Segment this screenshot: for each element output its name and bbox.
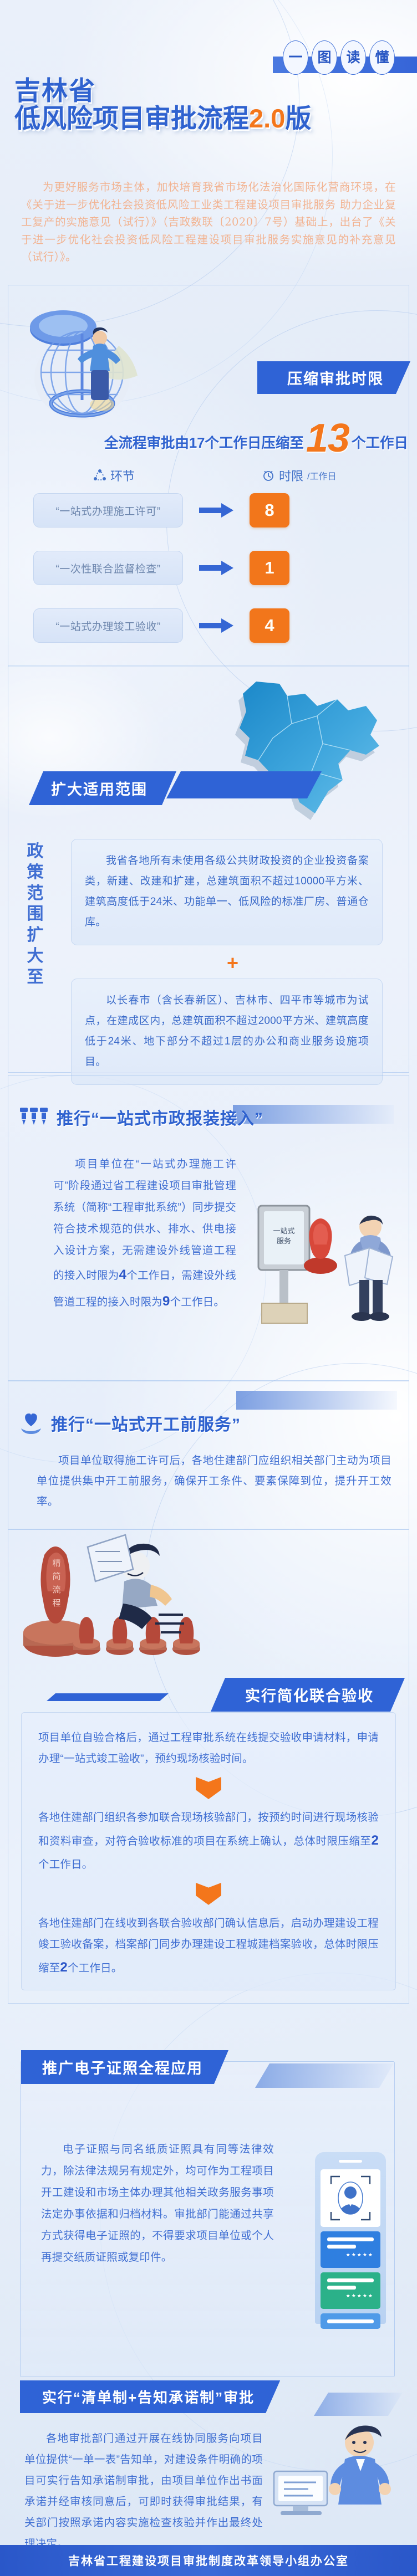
column-header-days-unit: /工作日	[307, 469, 336, 482]
section6-body: 电子证照与同名纸质证照具有同等法律效力，除法律法规另有规定外，均可作为工程项目开…	[41, 2139, 274, 2268]
plus-icon: +	[227, 953, 238, 973]
jilin-province-map-icon	[231, 672, 397, 838]
stamp-char-2: 简	[52, 1572, 60, 1581]
section5-content-box: 项目单位自验合格后，通过工程审批系统在线提交验收申请材料，申请办理“一站式竣工验…	[21, 1712, 396, 1990]
step-days: 8	[250, 493, 289, 528]
step-days: 1	[250, 551, 289, 585]
section3-body-part3: 个工作日。	[170, 1296, 225, 1308]
step-days: 4	[250, 608, 289, 643]
stamps-and-runner-illustration: 精 简 流 程	[10, 1532, 232, 1709]
intro-paragraph: 为更好服务市场主体，加快培育我省市场化法治化国际化营商环境，在《关于进一步优化社…	[21, 178, 396, 266]
page-header: 一 图 读 懂 吉林省 低风险项目审批流程2.0版	[0, 0, 417, 166]
scope-card-1: 我省各地所有未使用各级公共财政投资的企业投资备案类，新建、改建和扩建，总建筑面积…	[71, 839, 383, 945]
license-line	[327, 2237, 374, 2241]
section-electronic-license: 推广电子证照全程应用 电子证照与同名纸质证照具有同等法律效力，除法律法规另有规定…	[0, 2032, 417, 2387]
section5-ribbon-wrap: 实行简化联合验收	[211, 1678, 405, 1712]
step-label: “一次性联合监督检查”	[33, 551, 183, 585]
section3-heading: 推行“一站式市政报装接入”	[19, 1105, 263, 1129]
officer-and-computer-illustration	[271, 2418, 401, 2529]
person-id-icon	[329, 2174, 372, 2222]
title-version: 2.0	[249, 104, 285, 133]
column-header-step: 环节	[93, 467, 135, 484]
id-photo-panel	[321, 2169, 380, 2227]
scope-card-2: 以长春市（含长春新区）、吉林市、四平市等城市为试点，在建成区内，总建筑面积不超过…	[71, 979, 383, 1085]
section2-ribbon-title: 扩大适用范围	[29, 771, 176, 805]
license-line	[327, 2319, 374, 2323]
section3-body: 项目单位在“一站式办理施工许可”阶段通过省工程建设项目审批管理系统（简称“工程审…	[53, 1154, 236, 1315]
acceptance-block-2: 各地住建部门组织各参加联合现场核验部门，按预约时间进行现场核验和资料审查，对符合…	[38, 1807, 379, 1875]
license-line	[327, 2286, 356, 2290]
license-line	[327, 2245, 356, 2249]
chevron-down-icon	[196, 1883, 221, 1905]
column-header-step-label: 环节	[110, 467, 135, 484]
section7-ribbon-wrap: 实行“清单制+告知承诺制”审批	[20, 2380, 280, 2413]
globe-illustration	[16, 295, 160, 428]
badge-char-3: 读	[340, 40, 366, 75]
acceptance-block-2-part1: 各地住建部门组织各参加联合现场核验部门，按预约时间进行现场核验和资料审查，对符合…	[38, 1811, 379, 1847]
license-stars: ★★★★★	[327, 2252, 374, 2258]
title-line-1: 吉林省	[14, 78, 311, 104]
table-row: “一站式办理施工许可” 8	[33, 492, 377, 529]
page-footer: 吉林省工程建设项目审批制度改革领导小组办公室	[0, 2545, 417, 2576]
step-label: “一站式办理施工许可”	[33, 493, 183, 528]
column-header-days: 时限 /工作日	[262, 467, 336, 484]
infographic-page: 一 图 读 懂 吉林省 低风险项目审批流程2.0版 为更好服务市场主体，加快培育…	[0, 0, 417, 2576]
acceptance-block-3-part2: 个工作日。	[68, 1962, 123, 1974]
stamp-char-1: 精	[52, 1559, 60, 1568]
section-expand-scope: 扩大适用范围 政策范围扩大至 我省各地所有未使用各级公共财政投资的企业投资备案类…	[0, 663, 417, 1076]
section7-ribbon-tail	[314, 2393, 403, 2416]
section3-body-part1: 项目单位在“一站式办理施工许可”阶段通过省工程建设项目审批管理系统（简称“工程审…	[53, 1158, 236, 1282]
badge-char-2: 图	[312, 40, 337, 75]
section2-ribbon-wrap: 扩大适用范围	[29, 771, 176, 805]
section6-ribbon-tail	[255, 2063, 394, 2088]
license-line	[327, 2278, 374, 2282]
section5-ribbon-tail	[47, 1693, 169, 1701]
arrow-right-icon	[183, 561, 250, 575]
section4-heading-text: 推行“一站式开工前服务”	[51, 1411, 241, 1435]
acceptance-block-3-num: 2	[60, 1960, 68, 1975]
license-stars: ★★★★★	[327, 2293, 374, 2299]
phone-mockup: ★★★★★ ★★★★★	[315, 2152, 386, 2324]
section-checklist-commitment: 实行“清单制+告知承诺制”审批 各地审批部门通过开展在线协同服务向项目单位提供“…	[0, 2380, 417, 2541]
acceptance-block-3: 各地住建部门在线收到各联合验收部门确认信息后，启动办理建设工程竣工验收备案，档案…	[38, 1913, 379, 1981]
section-simplified-acceptance: 精 简 流 程	[0, 1529, 417, 2006]
section-compress-timeline: 压缩审批时限 全流程审批由17个工作日压缩至 13 个工作日 环节	[0, 288, 417, 665]
step-label: “一站式办理竣工验收”	[33, 608, 183, 643]
kiosk-label-line1: 一站式	[273, 1227, 294, 1235]
title-version-suffix: 版	[285, 104, 311, 133]
section1-ribbon-wrap: 压缩审批时限	[257, 361, 410, 394]
yitu-badge: 一 图 读 懂	[283, 42, 417, 73]
section7-body: 各地审批部门通过开展在线协同服务向项目单位提供“一单一表”告知单，对建设条件明确…	[24, 2428, 263, 2554]
section6-ribbon-wrap: 推广电子证照全程应用	[21, 2050, 228, 2084]
chevron-down-icon	[196, 1777, 221, 1799]
phone-speaker	[339, 2160, 362, 2163]
headline-lead: 全流程审批由17个工作日压缩至	[104, 432, 304, 454]
section3-heading-text: 推行“一站式市政报装接入”	[57, 1105, 263, 1129]
section-municipal-connection: 推行“一站式市政报装接入” 项目单位在“一站式办理施工许可”阶段通过省工程建设项…	[0, 1073, 417, 1383]
headline-tail: 个工作日	[352, 432, 408, 454]
acceptance-block-2-num: 2	[371, 1833, 379, 1848]
section3-body-num2: 9	[162, 1294, 170, 1309]
section6-ribbon-title: 推广电子证照全程应用	[21, 2050, 228, 2084]
officer-figure	[329, 2426, 391, 2505]
nodes-icon	[93, 469, 106, 482]
section1-ribbon-title: 压缩审批时限	[257, 361, 410, 394]
license-card-green: ★★★★★	[321, 2272, 380, 2309]
stamp-char-3: 流	[52, 1585, 60, 1595]
man-with-documents	[345, 1216, 393, 1321]
section4-heading-bar	[236, 1391, 397, 1410]
acceptance-block-2-part2: 个工作日。	[38, 1858, 93, 1871]
section7-ribbon-title: 实行“清单制+告知承诺制”审批	[20, 2380, 280, 2413]
column-header-days-label: 时限	[279, 467, 303, 484]
arrow-right-icon	[183, 618, 250, 633]
section1-headline: 全流程审批由17个工作日压缩至 13 个工作日	[0, 423, 408, 454]
section2-vertical-label: 政策范围扩大至	[22, 841, 49, 988]
kiosk-label-line2: 服务	[277, 1237, 291, 1245]
hand-heart-icon	[19, 1412, 43, 1434]
clock-icon	[262, 469, 275, 482]
section4-heading: 推行“一站式开工前服务”	[19, 1411, 241, 1435]
title-line-2: 低风险项目审批流程2.0版	[14, 104, 311, 134]
acceptance-block-1: 项目单位自验合格后，通过工程审批系统在线提交验收申请材料，申请办理“一站式竣工验…	[38, 1727, 379, 1769]
pipes-icon	[19, 1107, 49, 1128]
title-main-text: 低风险项目审批流程	[14, 104, 249, 133]
running-man	[88, 1535, 184, 1632]
page-title: 吉林省 低风险项目审批流程2.0版	[14, 78, 311, 134]
stamp-char-4: 程	[52, 1599, 60, 1608]
headline-number: 13	[305, 423, 350, 454]
license-card-blue: ★★★★★	[321, 2231, 380, 2268]
section3-body-num1: 4	[119, 1267, 127, 1282]
table-row: “一次性联合监督检查” 1	[33, 550, 377, 586]
section2-ribbon-tail	[166, 771, 322, 798]
section-pre-construction-service: 推行“一站式开工前服务” 项目单位取得施工许可后，各地住建部门应组织相关部门主动…	[0, 1381, 417, 1532]
badge-char-1: 一	[283, 40, 308, 75]
license-card-lightblue	[321, 2313, 380, 2329]
section4-body: 项目单位取得施工许可后，各地住建部门应组织相关部门主动为项目单位提供集中开工前服…	[37, 1451, 391, 1512]
kiosk-and-person-illustration: 一站式 服务	[251, 1205, 406, 1338]
table-row: “一站式办理竣工验收” 4	[33, 607, 377, 644]
section5-ribbon-title: 实行简化联合验收	[211, 1678, 405, 1712]
badge-char-4: 懂	[369, 40, 395, 75]
arrow-right-icon	[183, 503, 250, 518]
